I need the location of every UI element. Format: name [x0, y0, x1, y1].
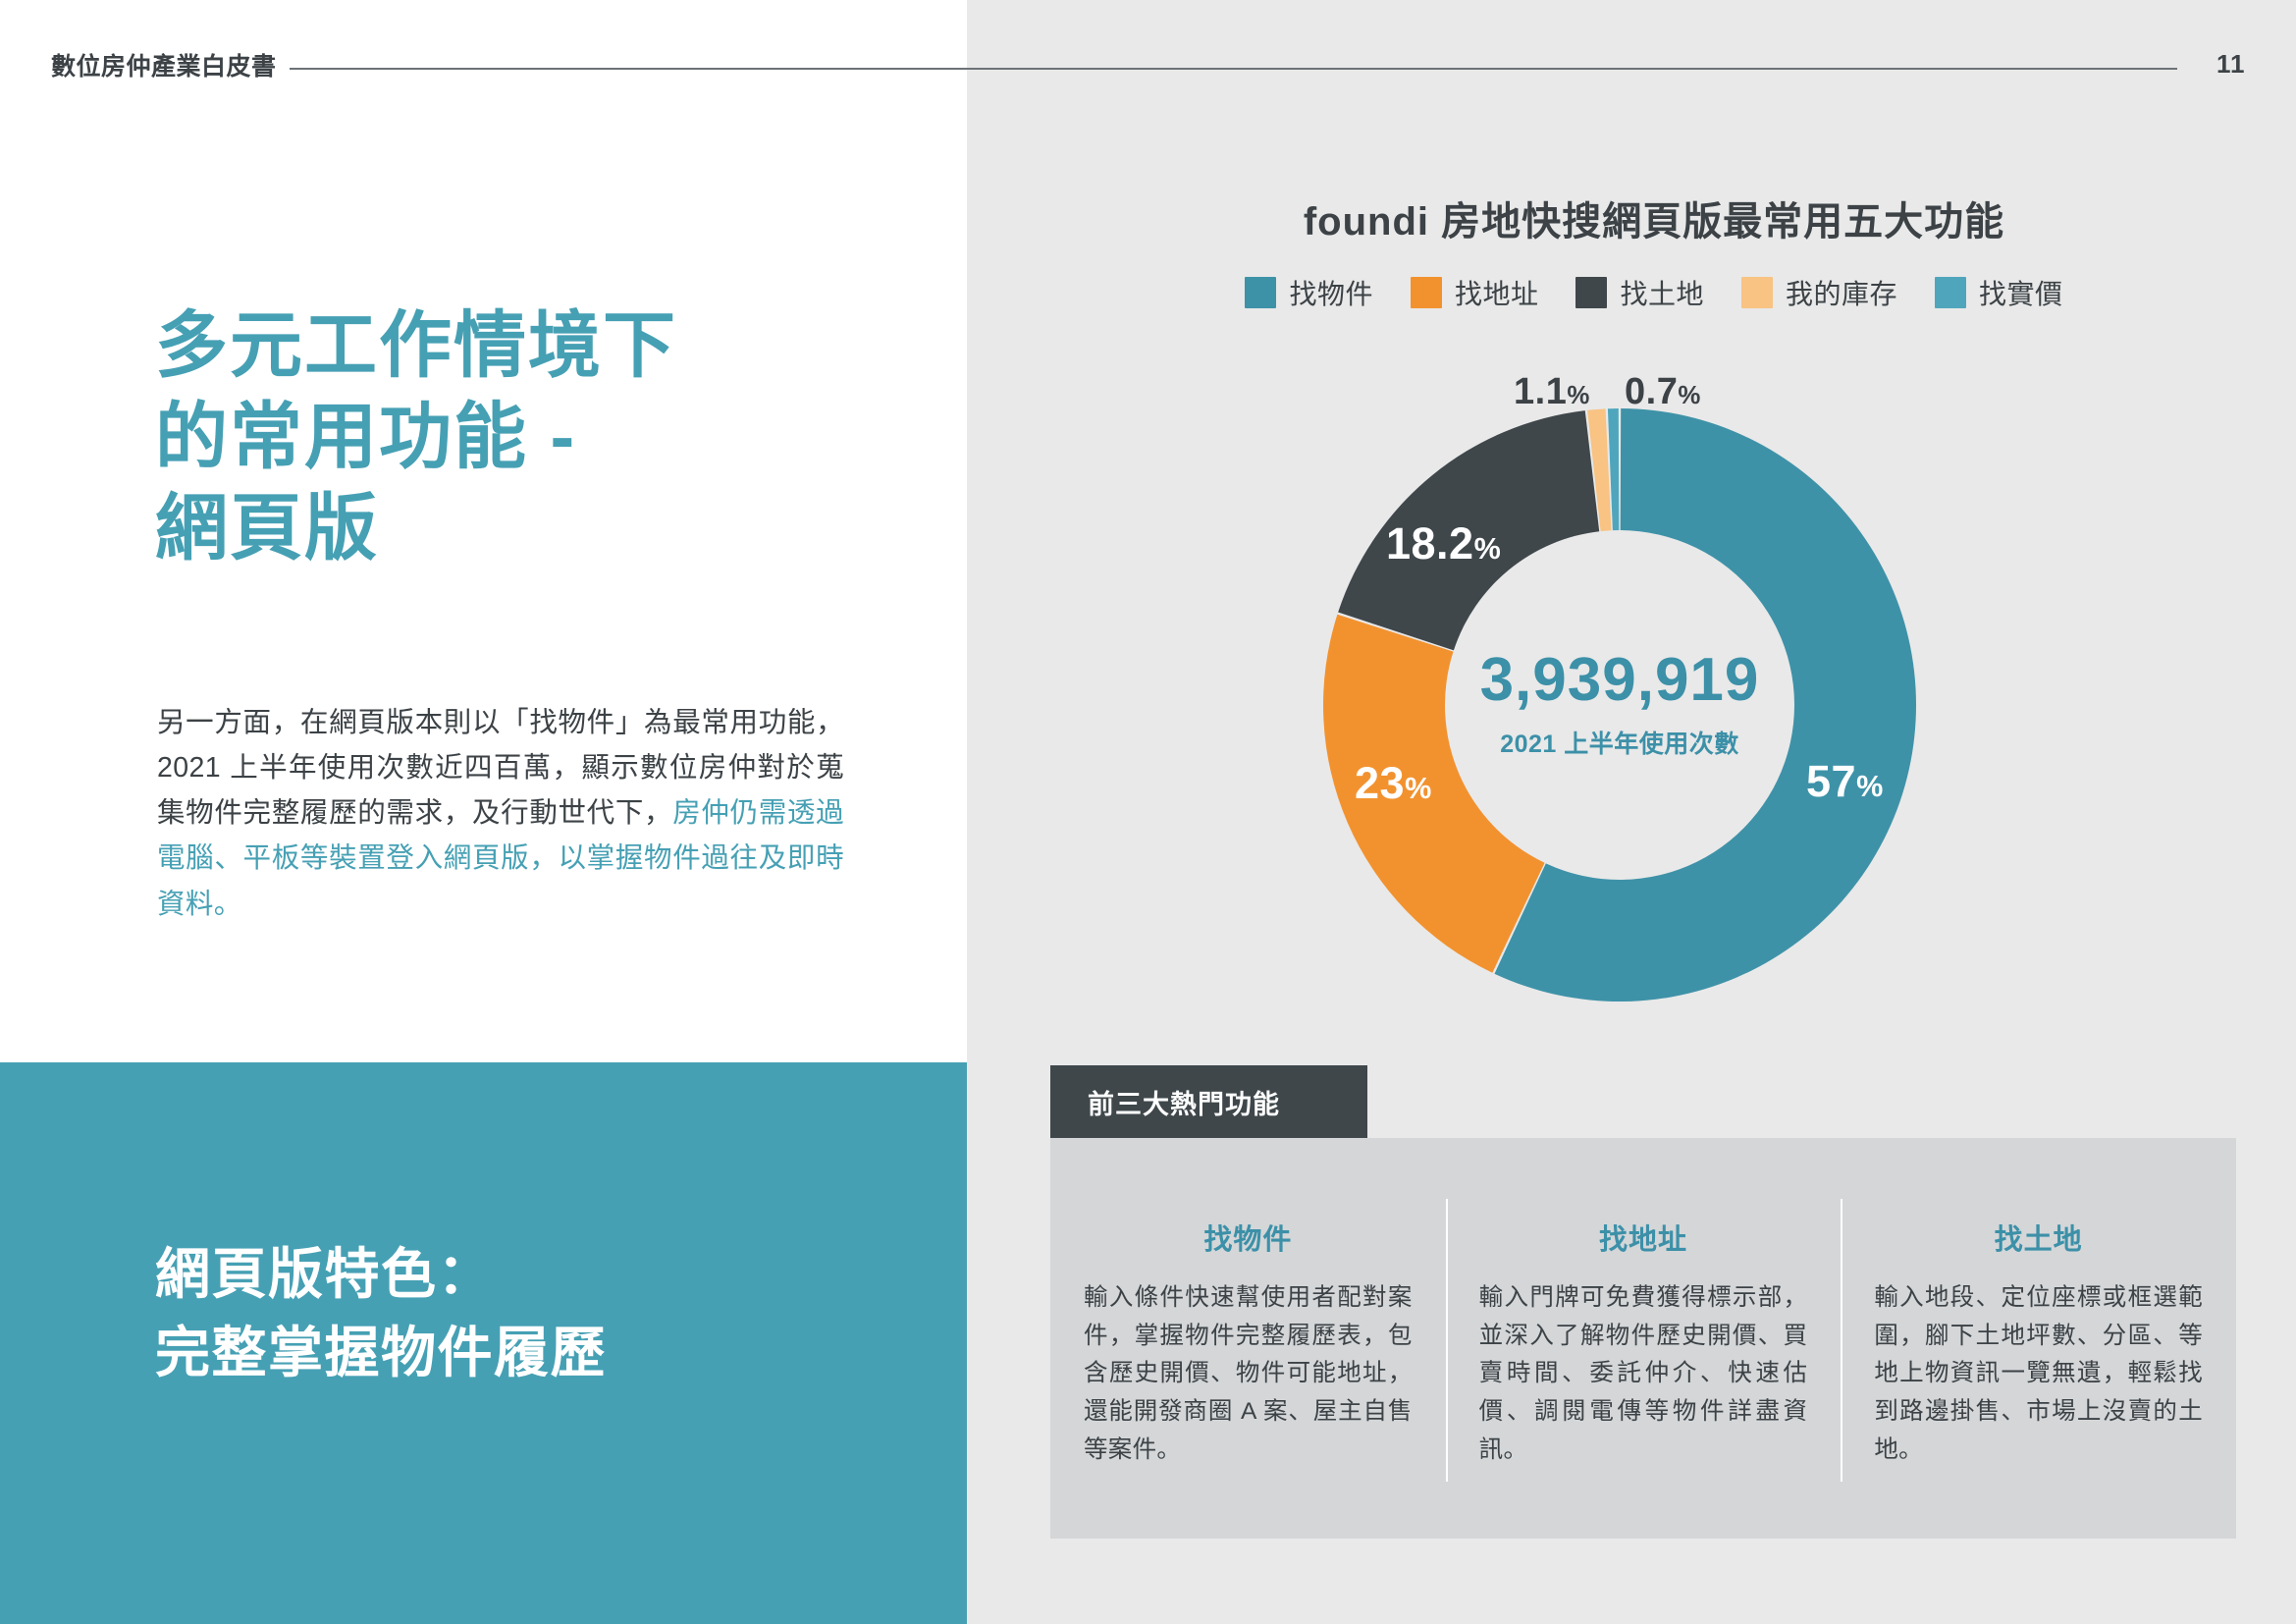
card-title-1: 找地址	[1479, 1217, 1808, 1258]
legend-label-1: 找地址	[1455, 273, 1539, 312]
card-title-2: 找土地	[1874, 1217, 2203, 1258]
page-title: 多元工作情境下 的常用功能 - 網頁版	[155, 299, 862, 574]
legend-item-2: 找土地	[1575, 273, 1704, 312]
page-title-line-1: 多元工作情境下	[155, 299, 862, 391]
slice-label-找地址: 23%	[1355, 758, 1432, 809]
slice-label-找物件: 57%	[1806, 756, 1884, 807]
card-找物件: 找物件 輸入條件快速幫使用者配對案件，掌握物件完整履歷表，包含歷史開價、物件可能…	[1050, 1138, 1446, 1539]
card-body-2: 輸入地段、定位座標或框選範圍，腳下土地坪數、分區、等地上物資訊一覽無遺，輕鬆找到…	[1874, 1279, 2203, 1470]
legend-label-0: 找物件	[1289, 273, 1373, 312]
legend-item-0: 找物件	[1245, 273, 1373, 312]
feature-block-title: 網頁版特色： 完整掌握物件履歷	[155, 1235, 901, 1391]
page-title-line-2: 的常用功能 -	[155, 391, 862, 482]
header-divider	[290, 68, 2177, 70]
feature-block-line-1: 網頁版特色：	[155, 1235, 901, 1314]
page-title-line-3: 網頁版	[155, 482, 862, 573]
legend-swatch-icon-3	[1741, 277, 1773, 308]
legend-swatch-icon-0	[1245, 277, 1276, 308]
legend-label-2: 找土地	[1620, 273, 1704, 312]
chart-title: foundi 房地快搜網頁版最常用五大功能	[1050, 189, 2258, 246]
legend-swatch-icon-2	[1575, 277, 1607, 308]
donut-slices	[1323, 408, 1916, 1001]
cards-tab-label: 前三大熱門功能	[1088, 1083, 1280, 1121]
slice-label-找實價: 0.7%	[1625, 371, 1701, 413]
slice-label-找土地: 18.2%	[1386, 518, 1501, 569]
cards-tab-header: 前三大熱門功能	[1050, 1065, 1367, 1138]
legend-label-4: 找實價	[1979, 273, 2063, 312]
donut-chart-svg	[1306, 391, 1934, 1019]
page-header: 數位房仲產業白皮書 11	[0, 0, 2296, 98]
card-body-1: 輸入門牌可免費獲得標示部，並深入了解物件歷史開價、買賣時間、委託仲介、快速估價、…	[1479, 1279, 1808, 1470]
legend-label-3: 我的庫存	[1786, 273, 1897, 312]
card-找土地: 找土地 輸入地段、定位座標或框選範圍，腳下土地坪數、分區、等地上物資訊一覽無遺，…	[1841, 1138, 2236, 1539]
feature-block-line-2: 完整掌握物件履歷	[155, 1314, 901, 1392]
slice-label-我的庫存: 1.1%	[1514, 371, 1590, 413]
legend-swatch-icon-4	[1935, 277, 1966, 308]
card-title-0: 找物件	[1084, 1217, 1413, 1258]
intro-paragraph: 另一方面，在網頁版本則以「找物件」為最常用功能，2021 上半年使用次數近四百萬…	[157, 700, 844, 927]
legend-item-1: 找地址	[1411, 273, 1539, 312]
legend-item-3: 我的庫存	[1741, 273, 1897, 312]
page-root: 數位房仲產業白皮書 11 多元工作情境下 的常用功能 - 網頁版 另一方面，在網…	[0, 0, 2296, 1624]
donut-chart	[1306, 391, 1934, 1019]
chart-legend: 找物件 找地址 找土地 我的庫存 找實價	[1050, 273, 2258, 312]
legend-item-4: 找實價	[1935, 273, 2063, 312]
legend-swatch-icon-1	[1411, 277, 1442, 308]
card-找地址: 找地址 輸入門牌可免費獲得標示部，並深入了解物件歷史開價、買賣時間、委託仲介、快…	[1446, 1138, 1842, 1539]
card-body-0: 輸入條件快速幫使用者配對案件，掌握物件完整履歷表，包含歷史開價、物件可能地址，還…	[1084, 1279, 1413, 1470]
document-title: 數位房仲產業白皮書	[51, 47, 277, 82]
page-number: 11	[2216, 49, 2246, 80]
cards-row: 找物件 輸入條件快速幫使用者配對案件，掌握物件完整履歷表，包含歷史開價、物件可能…	[1050, 1138, 2236, 1539]
